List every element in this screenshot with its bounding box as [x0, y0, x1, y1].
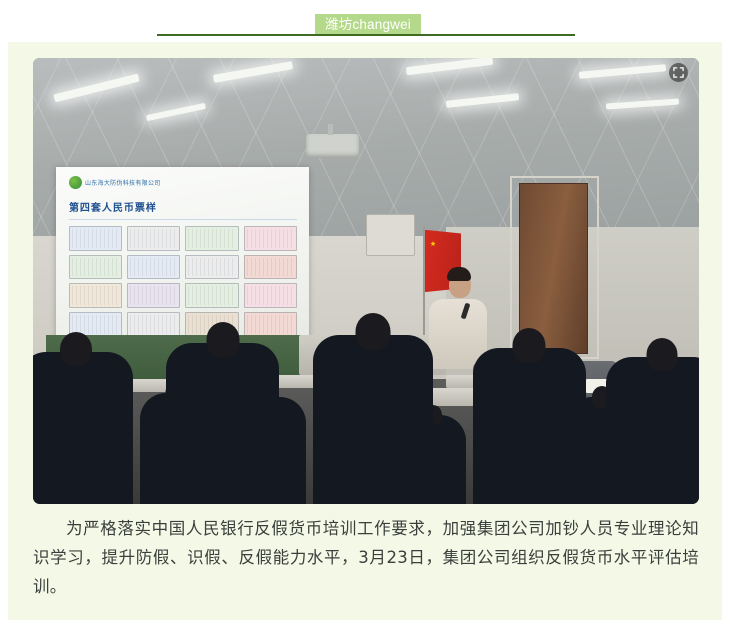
slide-logo-text: 山东海大防伪科技有限公司 [85, 178, 161, 187]
slide-title-underline [69, 219, 297, 220]
page-header: 潍坊changwei [0, 0, 730, 42]
banknote-sample [127, 255, 180, 280]
audience-member-front [33, 352, 133, 504]
banknote-sample [244, 283, 297, 308]
article-photo[interactable]: 山东海大防伪科技有限公司 第四套人民币票样 [33, 58, 699, 504]
audience-member-front [166, 343, 279, 504]
audience-head [355, 313, 390, 350]
banknote-sample-grid [69, 226, 297, 337]
banknote-sample [69, 283, 122, 308]
banknote-sample [244, 226, 297, 251]
audience-member-front [606, 357, 699, 504]
banknote-sample [127, 226, 180, 251]
audience-head [647, 338, 678, 371]
banknote-sample [127, 312, 180, 337]
wall-monitor [366, 214, 415, 256]
banknote-sample [185, 283, 238, 308]
slide-title: 第四套人民币票样 [69, 199, 157, 214]
article-card: 山东海大防伪科技有限公司 第四套人民币票样 [8, 42, 722, 620]
account-name-badge: 潍坊changwei [315, 14, 421, 36]
banknote-sample [127, 283, 180, 308]
company-logo-icon [69, 176, 82, 189]
banknote-sample [244, 255, 297, 280]
ceiling-projector [306, 134, 359, 159]
audience-head [60, 332, 92, 366]
banknote-sample [185, 226, 238, 251]
audience-member-front [313, 335, 433, 504]
photo-canvas: 山东海大防伪科技有限公司 第四套人民币票样 [33, 58, 699, 504]
banknote-sample [69, 226, 122, 251]
article-body-text: 为严格落实中国人民银行反假货币培训工作要求，加强集团公司加钞人员专业理论知识学习… [33, 514, 699, 601]
flag-star-icon: ★ [430, 241, 436, 248]
fullscreen-button[interactable] [669, 63, 688, 82]
banknote-sample [185, 255, 238, 280]
header-divider-rule [157, 34, 575, 36]
slide-logo: 山东海大防伪科技有限公司 [69, 176, 161, 189]
banknote-sample [69, 255, 122, 280]
banknote-sample [244, 312, 297, 337]
presenter-hair [447, 267, 471, 281]
audience-member-front [473, 348, 586, 504]
audience-head [513, 328, 546, 363]
audience-head [206, 322, 239, 357]
fullscreen-expand-icon [673, 67, 684, 78]
projection-screen: 山东海大防伪科技有限公司 第四套人民币票样 [56, 167, 309, 345]
